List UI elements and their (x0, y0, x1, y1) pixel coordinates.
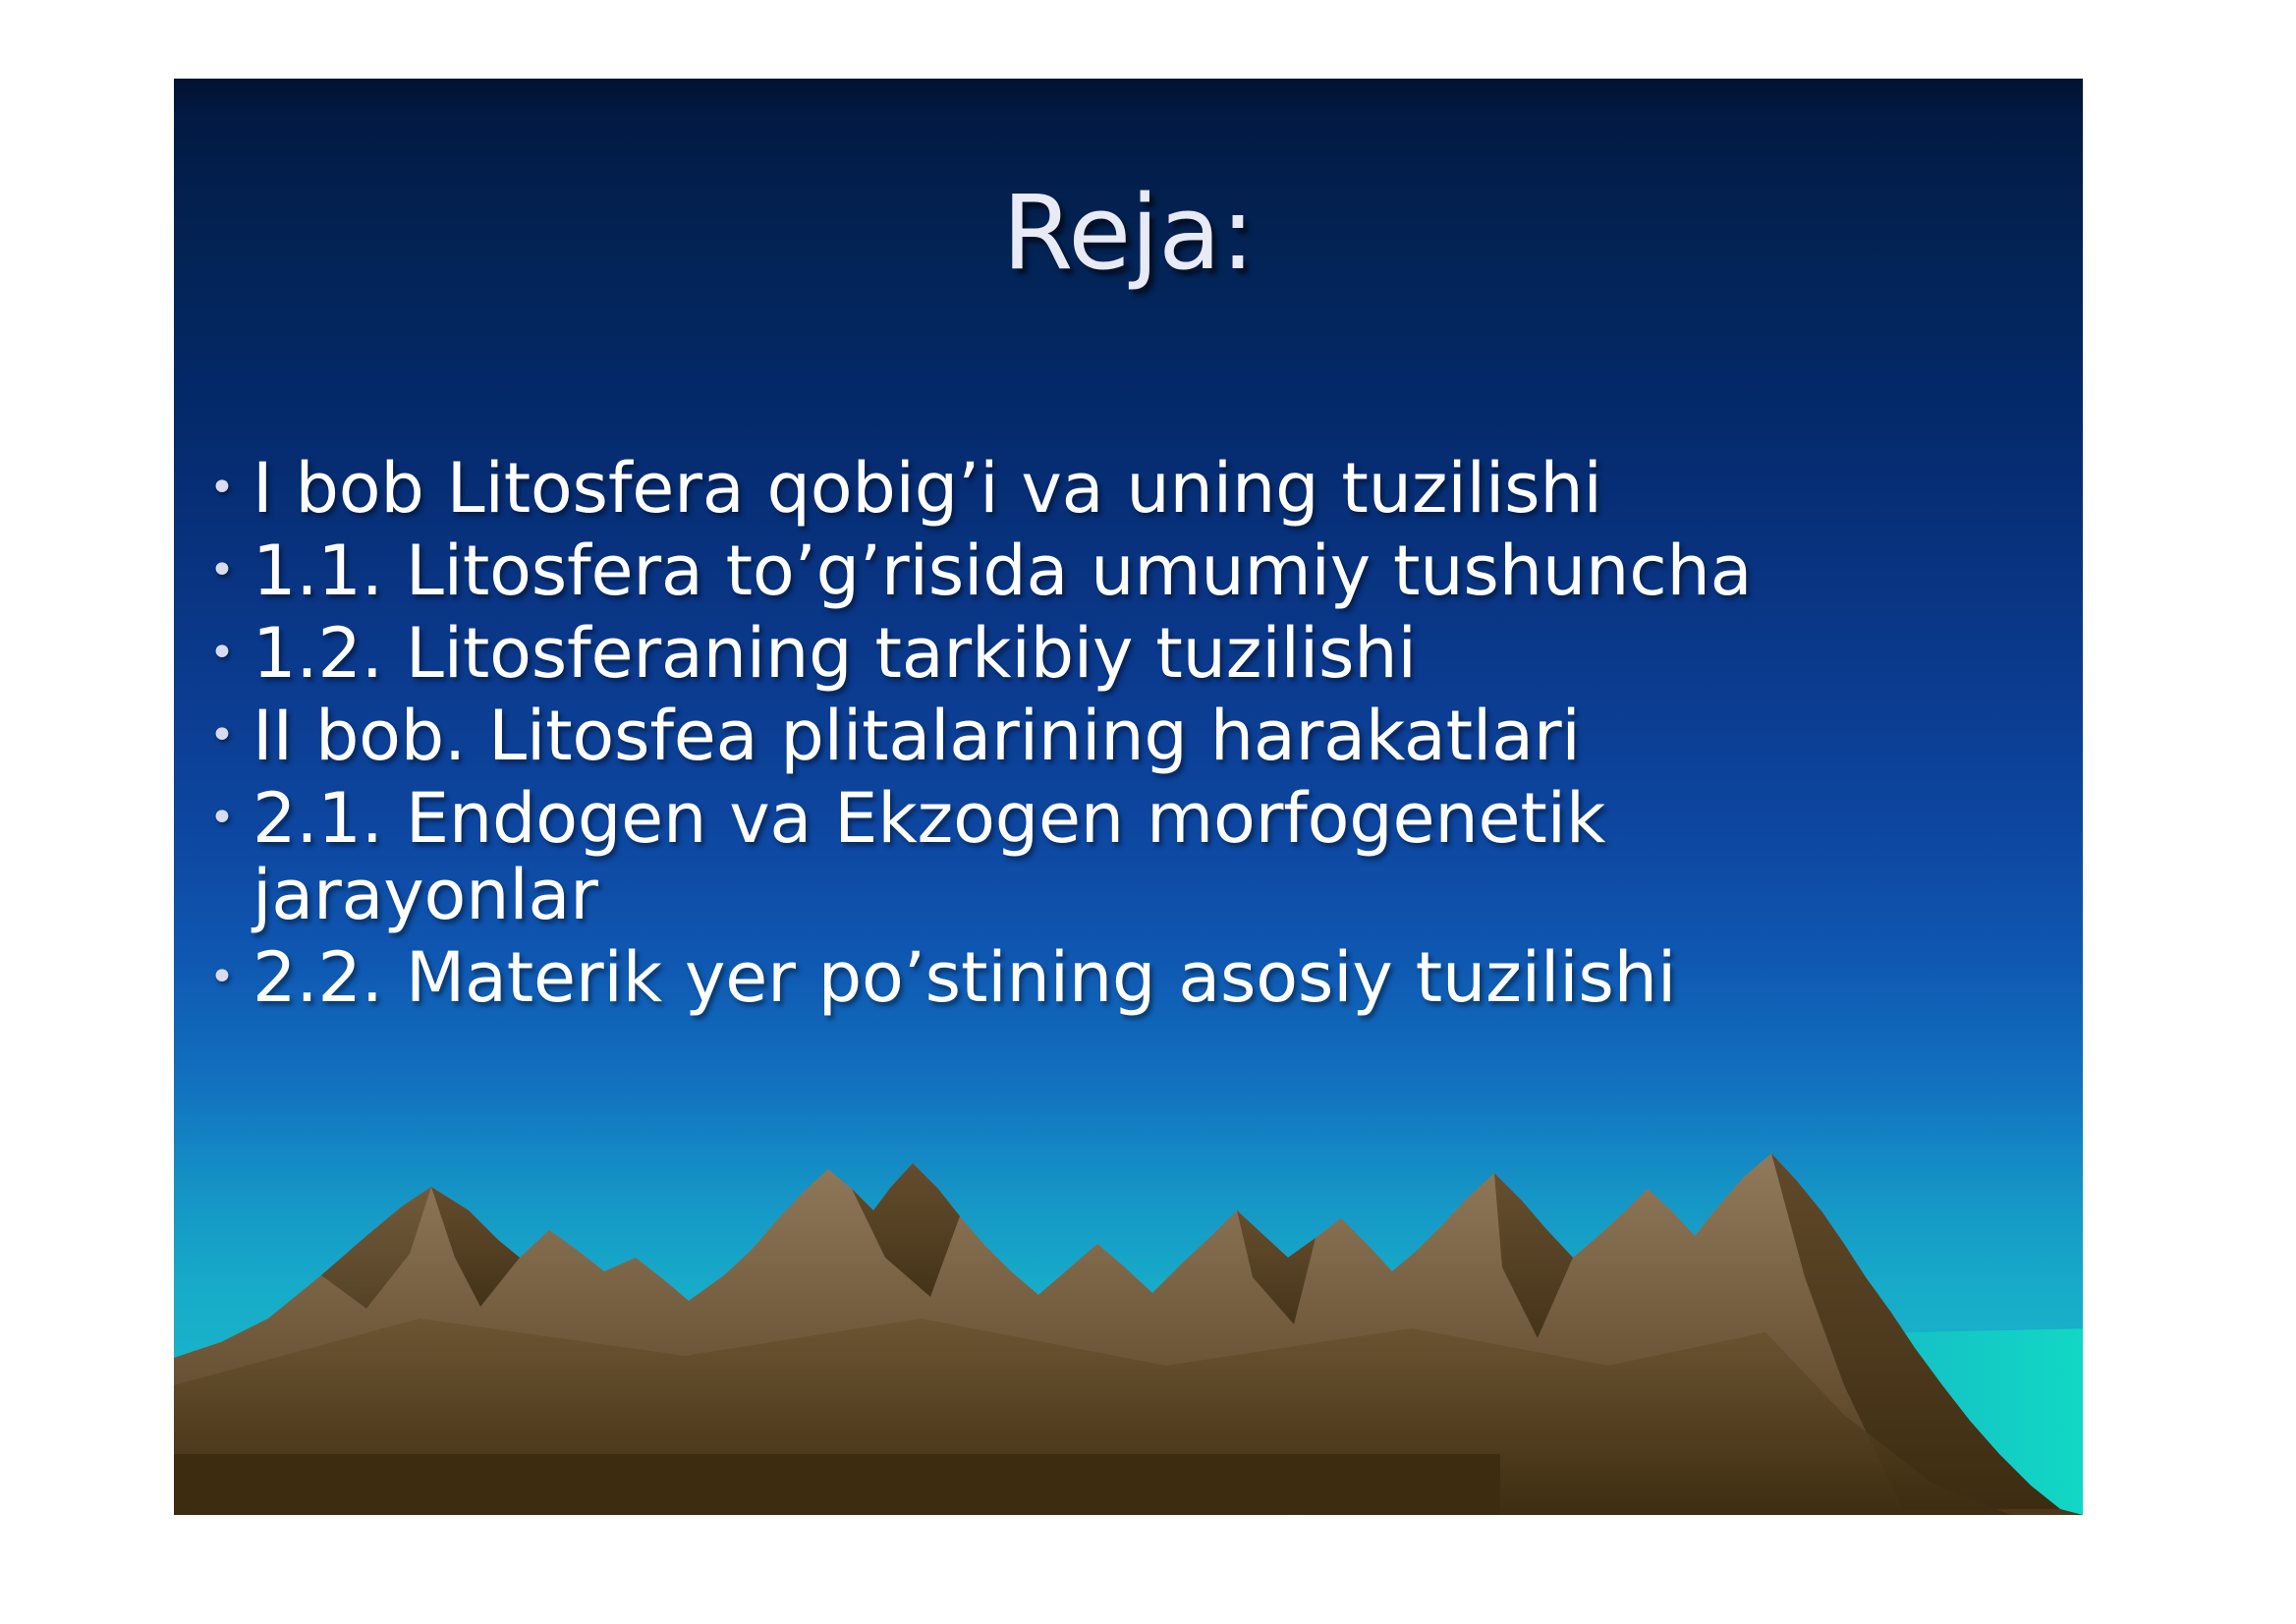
list-item[interactable]: • II bob. Litosfea plitalarining harakat… (192, 698, 1921, 774)
slide-root: Reja: • I bob Litosfera qobig’i va uning… (0, 0, 2296, 1624)
slide-title: Reja: (174, 180, 2083, 287)
bullet-text: II bob. Litosfea plitalarining harakatla… (252, 698, 1921, 774)
list-item[interactable]: • 2.1. Endogen va Ekzogen morfogenetik j… (192, 780, 1921, 933)
presentation-slide: Reja: • I bob Litosfera qobig’i va uning… (174, 79, 2083, 1515)
list-item[interactable]: • I bob Litosfera qobig’i va uning tuzil… (192, 450, 1921, 527)
list-item[interactable]: • 2.2. Materik yer po’stining asosiy tuz… (192, 939, 1921, 1016)
bullet-point-icon: • (192, 780, 252, 857)
list-item[interactable]: • 1.1. Litosfera to’g’risida umumiy tush… (192, 532, 1921, 609)
bullet-text: 1.2. Litosferaning tarkibiy tuzilishi (252, 615, 1921, 692)
bullet-point-icon: • (192, 450, 252, 527)
list-item[interactable]: • 1.2. Litosferaning tarkibiy tuzilishi (192, 615, 1921, 692)
bullet-text: 2.2. Materik yer po’stining asosiy tuzil… (252, 939, 1921, 1016)
bullet-point-icon: • (192, 939, 252, 1016)
bullet-text: 1.1. Litosfera to’g’risida umumiy tushun… (252, 532, 1921, 609)
bullet-point-icon: • (192, 698, 252, 774)
bullet-point-icon: • (192, 615, 252, 692)
bullet-text: 2.1. Endogen va Ekzogen morfogenetik jar… (252, 780, 1921, 933)
bullet-text: I bob Litosfera qobig’i va uning tuzilis… (252, 450, 1921, 527)
bullet-point-icon: • (192, 532, 252, 609)
slide-bullet-list: • I bob Litosfera qobig’i va uning tuzil… (192, 450, 1921, 1022)
